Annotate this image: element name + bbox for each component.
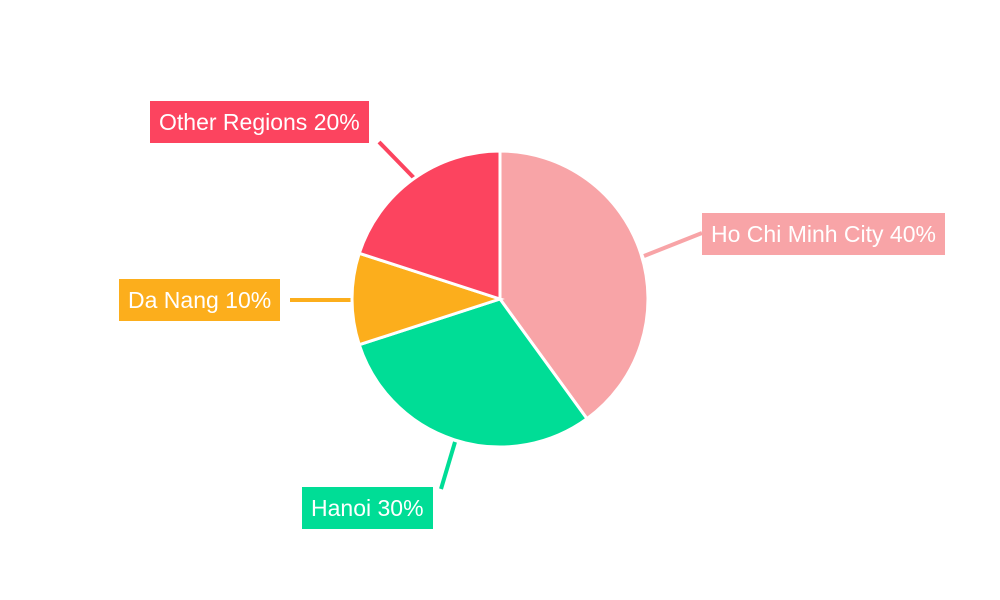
leader-line-other-regions <box>379 142 416 180</box>
pie-label-da-nang[interactable]: Da Nang 10% <box>119 279 280 321</box>
leader-line-ho-chi-minh-city <box>644 233 702 256</box>
pie-label-ho-chi-minh-city[interactable]: Ho Chi Minh City 40% <box>702 213 945 255</box>
pie-label-other-regions[interactable]: Other Regions 20% <box>150 101 369 143</box>
leader-line-hanoi <box>441 442 455 489</box>
pie-label-hanoi[interactable]: Hanoi 30% <box>302 487 433 529</box>
pie-chart-figure: Ho Chi Minh City 40% Hanoi 30% Da Nang 1… <box>0 0 1000 600</box>
